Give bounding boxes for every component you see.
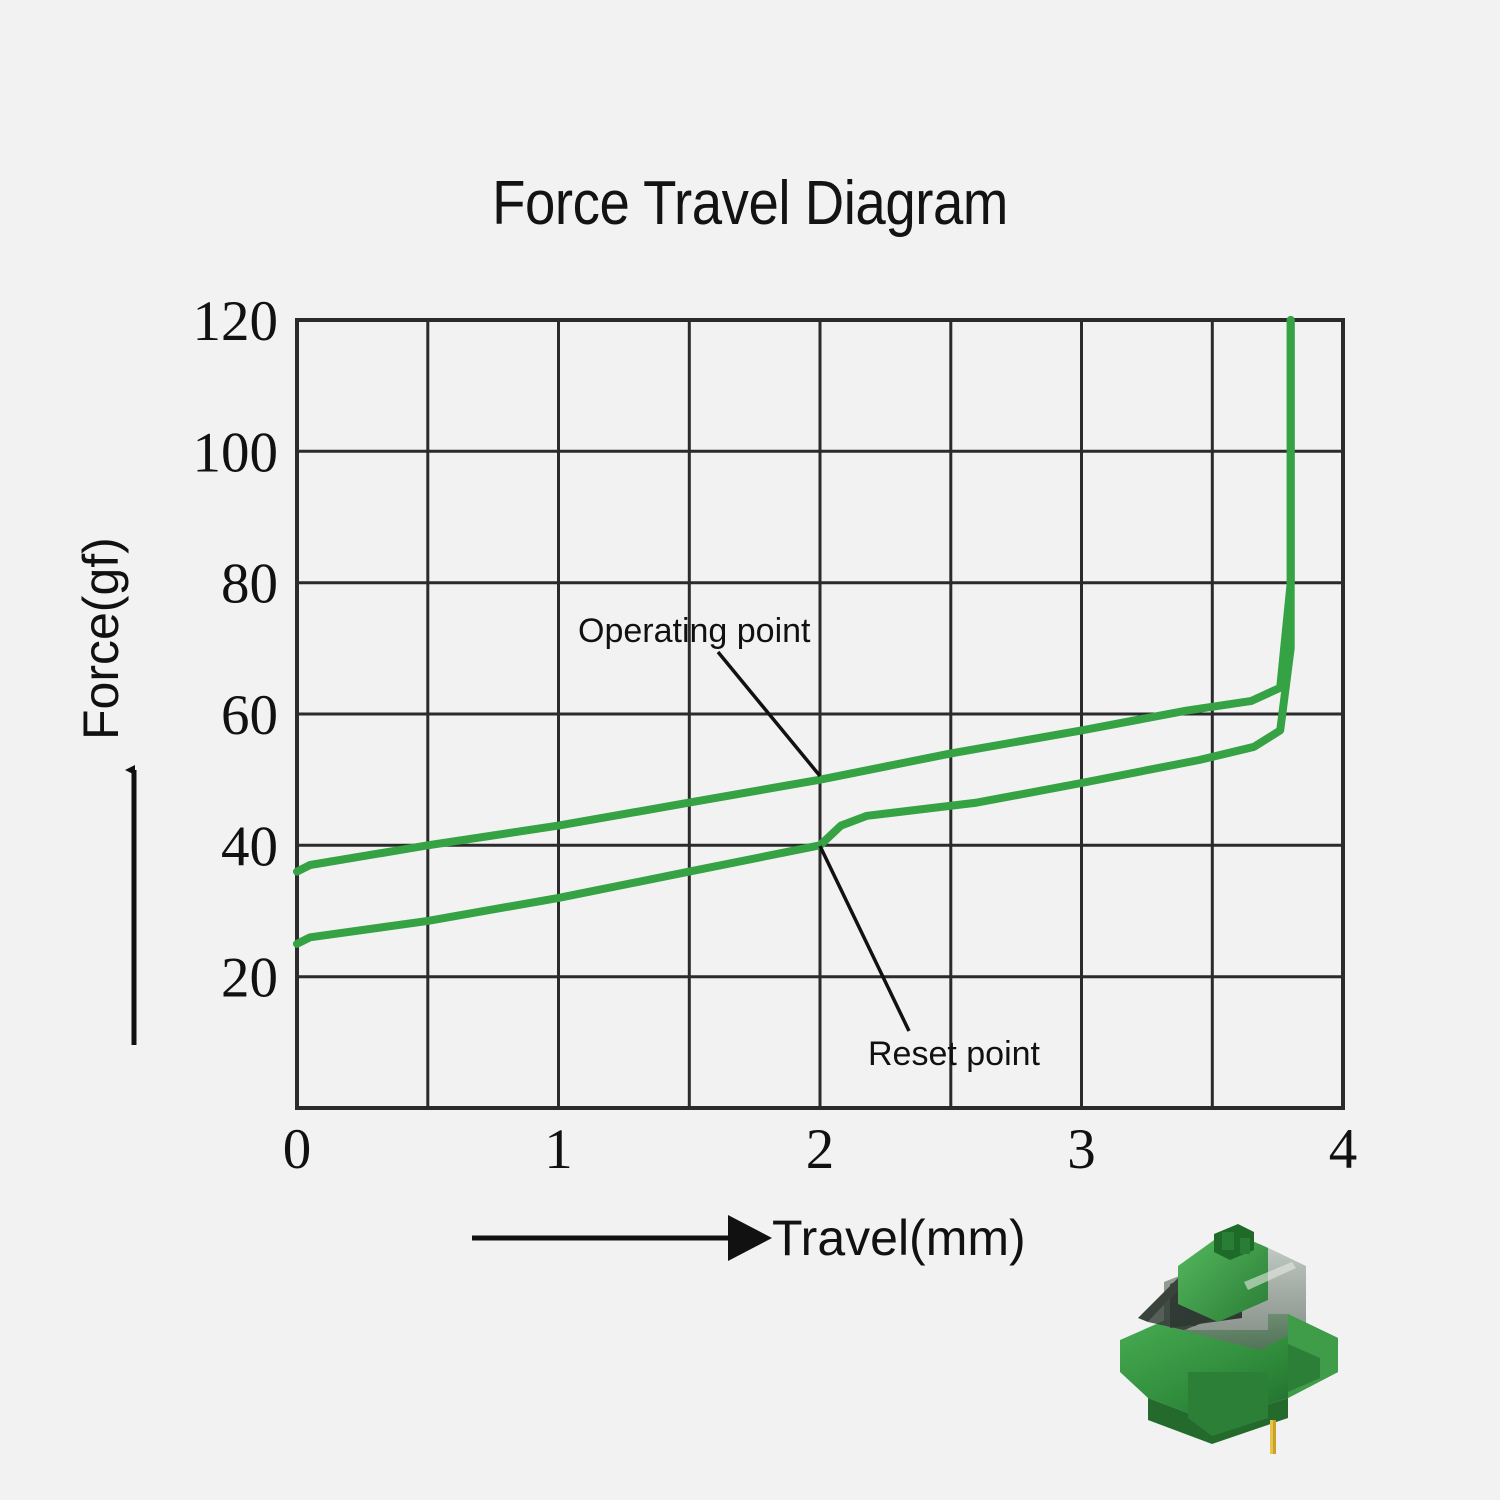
y-tick-label: 80 xyxy=(221,553,278,616)
y-tick-label: 20 xyxy=(221,947,278,1010)
x-tick-label: 0 xyxy=(283,1118,312,1181)
x-tick-label: 2 xyxy=(806,1118,835,1181)
y-tick-label: 40 xyxy=(221,815,278,878)
y-tick-label: 120 xyxy=(193,290,279,353)
green-mechanical-switch-image xyxy=(1092,1222,1362,1472)
x-tick-label: 4 xyxy=(1329,1118,1358,1181)
y-tick-label: 60 xyxy=(221,684,278,747)
reset-point-leader-line xyxy=(820,846,909,1031)
x-tick-label: 3 xyxy=(1067,1118,1096,1181)
x-tick-label: 1 xyxy=(544,1118,573,1181)
x-axis-title: Travel(mm) xyxy=(772,1210,1026,1266)
chart-page: Force Travel Diagram 12010080604020 0123… xyxy=(0,0,1500,1500)
y-axis-tick-labels: 12010080604020 xyxy=(193,290,279,1010)
press-force-curve xyxy=(297,320,1291,872)
y-tick-label: 100 xyxy=(193,421,279,484)
operating-point-label: Operating point xyxy=(578,612,811,650)
x-axis-tick-labels: 01234 xyxy=(283,1118,1358,1181)
travel-axis-arrow-head xyxy=(728,1215,772,1261)
reset-point-label: Reset point xyxy=(868,1035,1041,1073)
y-axis-title: Force(gf) xyxy=(73,537,129,740)
